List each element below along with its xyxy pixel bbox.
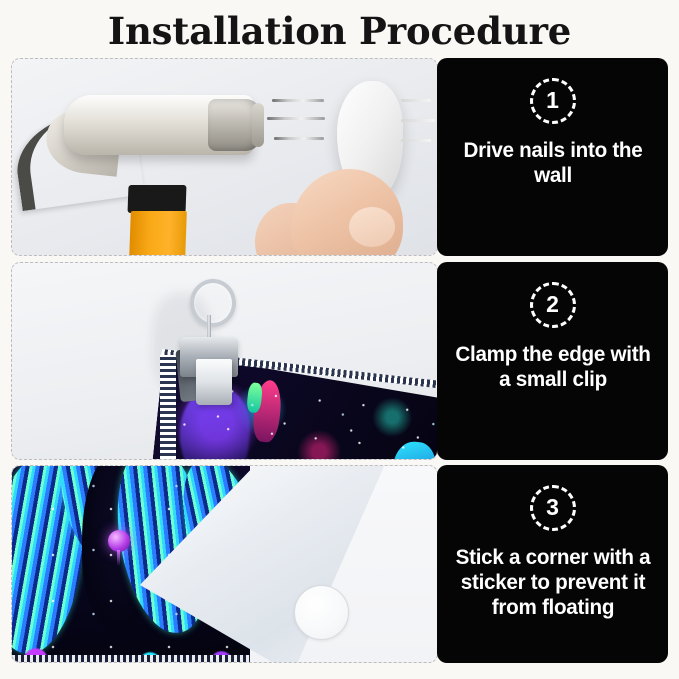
nail-tip <box>401 139 431 142</box>
tapestry-fringe-bottom <box>12 655 250 663</box>
tapestry-fringe-left <box>160 355 176 460</box>
step-3-badge: 3 <box>530 485 576 531</box>
step-3-photo <box>11 465 438 663</box>
step-row-1: 1 Drive nails into the wall <box>11 58 668 256</box>
installation-procedure-infographic: Installation Procedure <box>0 0 679 679</box>
nail-tip <box>401 119 435 122</box>
step-2-badge: 2 <box>530 282 576 328</box>
page-title: Installation Procedure <box>0 8 679 54</box>
step-2-number: 2 <box>546 293 559 316</box>
step-3-number: 3 <box>546 496 559 519</box>
hammer-grip-band <box>128 185 187 213</box>
step-row-3: 3 Stick a corner with a sticker to preve… <box>11 465 668 663</box>
clip-tapestry-scene <box>12 263 437 459</box>
clip-jaw <box>196 359 232 405</box>
thumbnail <box>349 207 395 247</box>
step-1-panel: 1 Drive nails into the wall <box>437 58 668 256</box>
hammer-handle <box>129 211 187 256</box>
step-1-photo <box>11 58 438 256</box>
step-1-text: Drive nails into the wall <box>448 138 657 188</box>
step-2-photo <box>11 262 438 460</box>
step-2-panel: 2 Clamp the edge with a small clip <box>437 262 668 460</box>
step-3-panel: 3 Stick a corner with a sticker to preve… <box>437 465 668 663</box>
adhesive-sticker <box>294 585 349 640</box>
nail-icon <box>274 137 324 140</box>
step-3-text: Stick a corner with a sticker to prevent… <box>448 545 657 620</box>
step-row-2: 2 Clamp the edge with a small clip <box>11 262 668 460</box>
nail-icon <box>267 117 325 120</box>
nail-tip <box>401 99 431 102</box>
hammer-face <box>208 99 260 151</box>
step-1-number: 1 <box>546 89 559 112</box>
step-2-text: Clamp the edge with a small clip <box>448 342 657 392</box>
clip-ring <box>190 279 236 327</box>
step-1-badge: 1 <box>530 78 576 124</box>
hammer-nail-scene <box>12 59 437 255</box>
folded-corner-sticker-scene <box>12 466 437 662</box>
nail-icon <box>272 99 324 102</box>
